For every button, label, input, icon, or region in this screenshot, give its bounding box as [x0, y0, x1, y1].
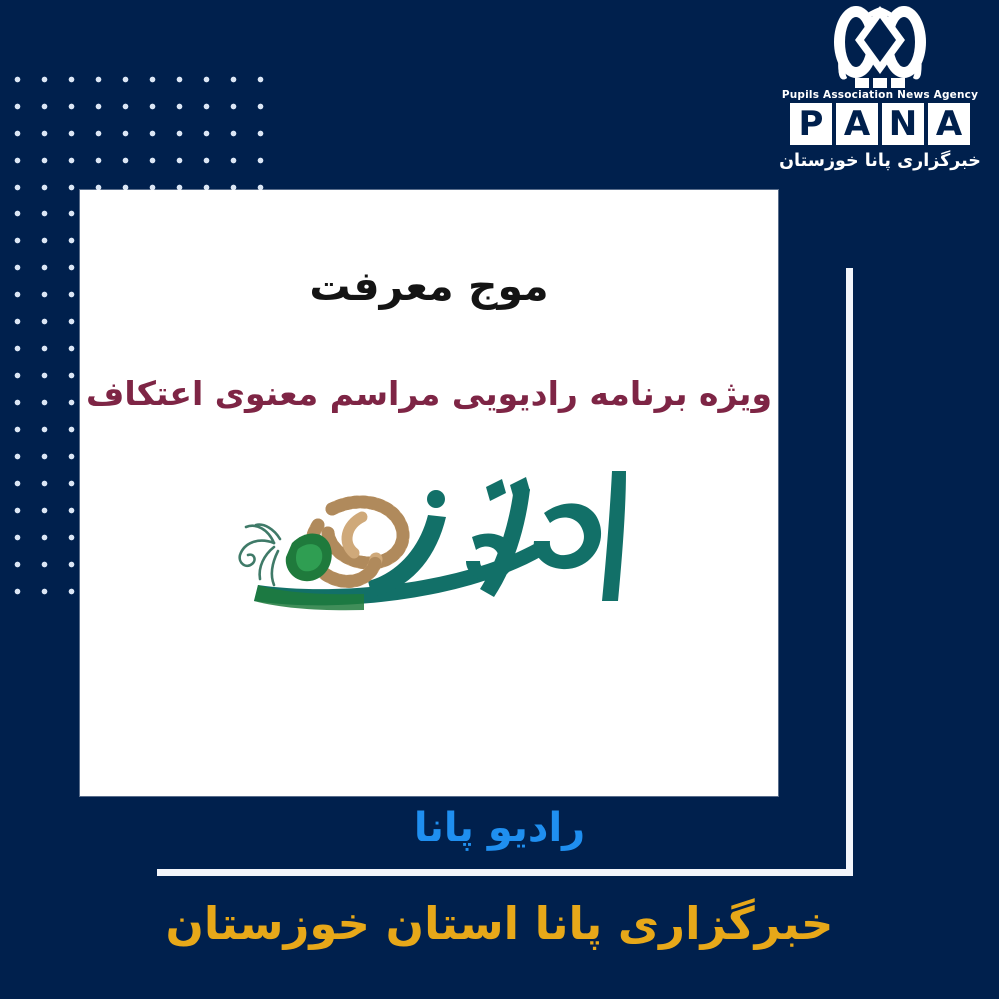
logo-letter-n: N — [882, 103, 924, 145]
poster-canvas: Pupils Association News Agency P A N A خ… — [0, 0, 999, 999]
etekaf-calligraphy-icon — [214, 451, 644, 631]
frame-rule-horizontal — [157, 869, 853, 876]
logo-persian-name: خبرگزاری پانا خوزستان — [777, 151, 983, 171]
leaf-ornament — [240, 525, 280, 585]
content-card: موج معرفت ویژه برنامه رادیویی مراسم معنو… — [80, 190, 778, 796]
logo-letter-a2: A — [928, 103, 970, 145]
card-title: موج معرفت — [309, 262, 548, 310]
radio-pana-label: رادیو پانا — [0, 805, 999, 851]
pana-emblem-icon — [777, 2, 983, 88]
logo-wordmark: P A N A — [777, 103, 983, 145]
frame-rule-vertical — [846, 268, 853, 876]
prayer-beads — [286, 502, 403, 581]
pana-logo: Pupils Association News Agency P A N A خ… — [777, 2, 983, 184]
dot-grid-top — [0, 62, 264, 202]
agency-footer-label: خبرگزاری پانا استان خوزستان — [0, 897, 999, 950]
logo-letter-a1: A — [836, 103, 878, 145]
logo-letter-p: P — [790, 103, 832, 145]
card-subtitle: ویژه برنامه رادیویی مراسم معنوی اعتکاف — [86, 374, 772, 413]
dot-grid-left — [0, 196, 78, 606]
etekaf-calligraphy-artwork — [214, 451, 644, 631]
logo-tagline: Pupils Association News Agency — [777, 89, 983, 101]
